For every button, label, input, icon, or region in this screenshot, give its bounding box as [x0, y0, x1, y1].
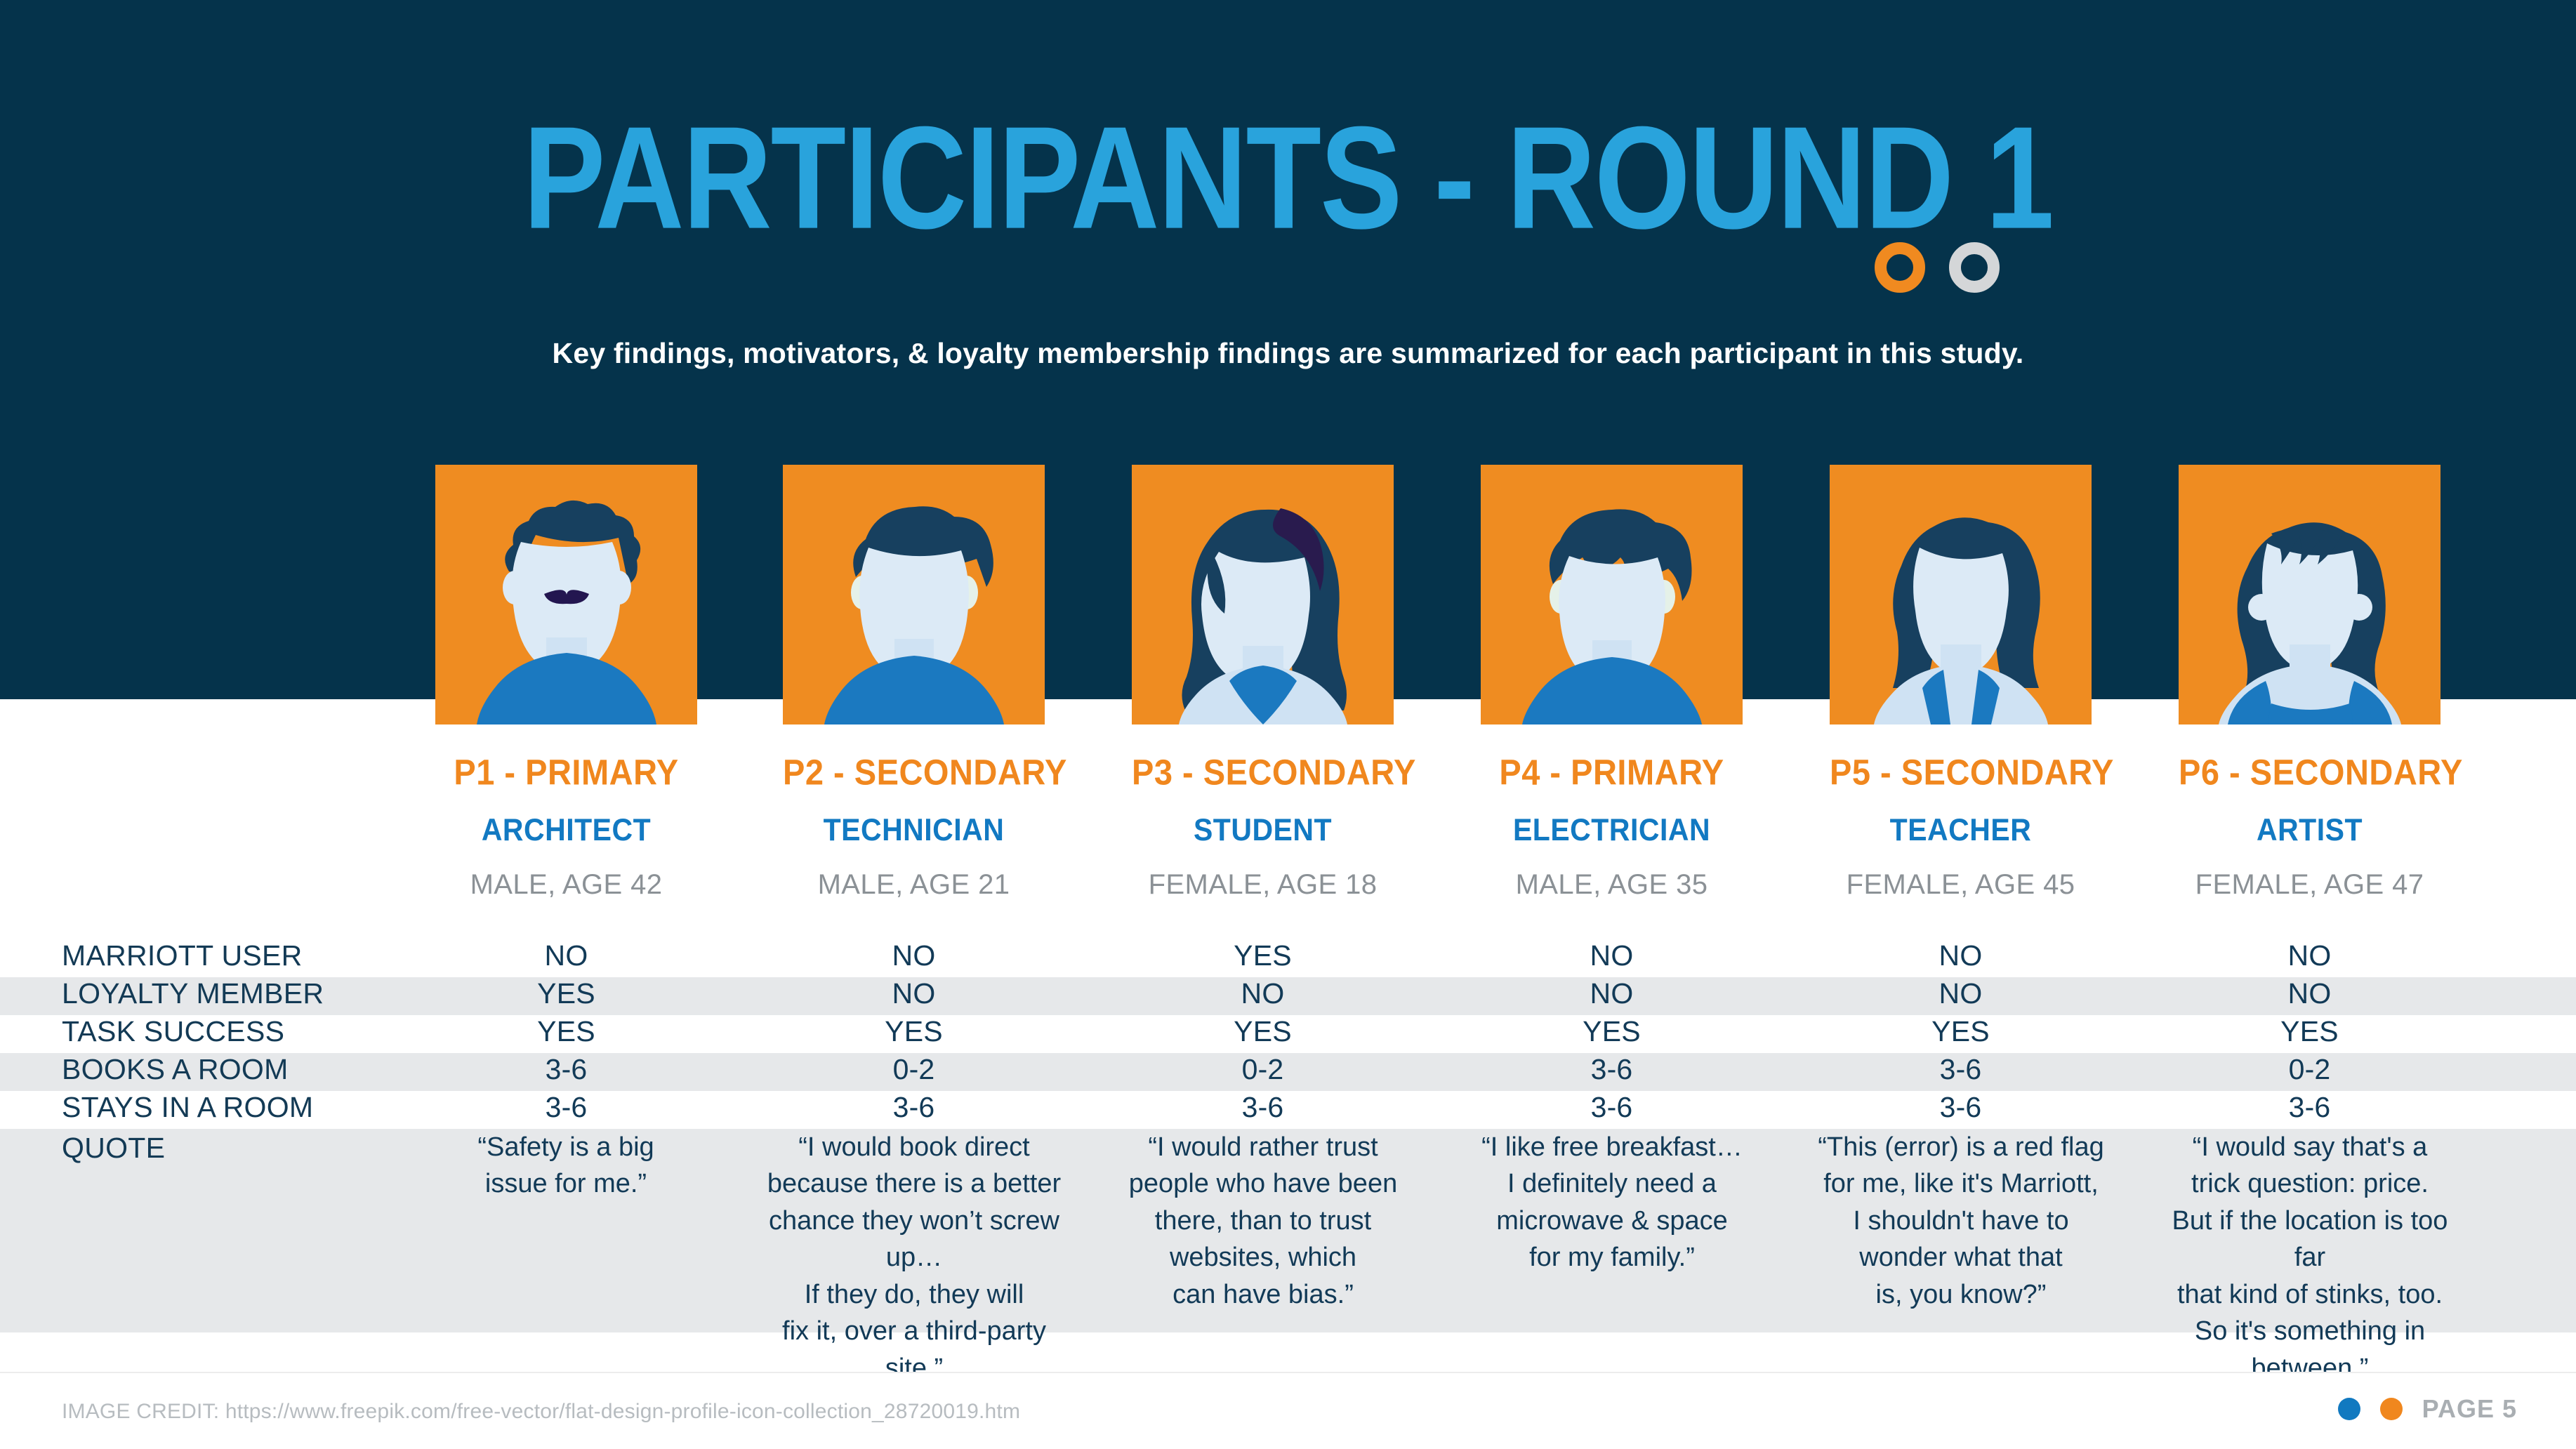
cell-marriott-user-p2: NO: [783, 939, 1045, 972]
page-indicator: PAGE 5: [2338, 1394, 2517, 1424]
cell-stays-in-a-room-p4: 3-6: [1481, 1091, 1743, 1124]
cell-task-success-p1: YES: [435, 1015, 697, 1048]
cell-loyalty-member-p2: NO: [783, 977, 1045, 1010]
cell-books-a-room-p2: 0-2: [783, 1053, 1045, 1086]
page-number-label: PAGE 5: [2422, 1394, 2517, 1424]
cell-marriott-user-p6: NO: [2179, 939, 2440, 972]
cell-quote-p3: “I would rather trust people who have be…: [1109, 1129, 1418, 1313]
avatar-p6: [2179, 465, 2440, 724]
participant-demographics-p3: FEMALE, AGE 18: [1132, 869, 1394, 901]
avatar-p5: [1830, 465, 2092, 724]
image-credit-text: IMAGE CREDIT: https://www.freepik.com/fr…: [62, 1400, 1020, 1424]
cell-task-success-p2: YES: [783, 1015, 1045, 1048]
cell-loyalty-member-p3: NO: [1132, 977, 1394, 1010]
cell-loyalty-member-p4: NO: [1481, 977, 1743, 1010]
cell-task-success-p3: YES: [1132, 1015, 1394, 1048]
cell-books-a-room-p4: 3-6: [1481, 1053, 1743, 1086]
participant-comparison-table: MARRIOTT USER NO NO YES NO NO NO LOYALTY…: [0, 939, 2576, 1332]
participant-role-p6: ARTIST: [2179, 812, 2440, 848]
cell-quote-p5: “This (error) is a red flag for me, like…: [1806, 1129, 2115, 1313]
avatar-p2: [783, 465, 1045, 724]
cell-task-success-p6: YES: [2179, 1015, 2440, 1048]
participant-role-p5: TEACHER: [1830, 812, 2092, 848]
cell-quote-p2: “I would book direct because there is a …: [760, 1129, 1069, 1387]
ring-gray-icon: [1949, 242, 2000, 293]
row-label-loyalty-member: LOYALTY MEMBER: [62, 977, 324, 1010]
cell-books-a-room-p5: 3-6: [1830, 1053, 2092, 1086]
cell-quote-p6: “I would say that's a trick question: pr…: [2155, 1129, 2464, 1387]
table-row-marriott-user: MARRIOTT USER NO NO YES NO NO NO: [0, 939, 2576, 977]
slide-root: PARTICIPANTS - ROUND 1 Key findings, mot…: [0, 0, 2576, 1449]
participant-header-p3: P3 - SECONDARY STUDENT FEMALE, AGE 18: [1132, 751, 1394, 901]
row-label-quote: QUOTE: [62, 1132, 165, 1165]
cell-books-a-room-p3: 0-2: [1132, 1053, 1394, 1086]
cell-quote-p4: “I like free breakfast… I definitely nee…: [1458, 1129, 1766, 1276]
avatar-p1: [435, 465, 697, 724]
cell-stays-in-a-room-p5: 3-6: [1830, 1091, 2092, 1124]
page-title: PARTICIPANTS - ROUND 1: [0, 105, 2576, 251]
cell-stays-in-a-room-p6: 3-6: [2179, 1091, 2440, 1124]
cell-quote-p1: “Safety is a big issue for me.”: [411, 1129, 720, 1203]
cell-books-a-room-p6: 0-2: [2179, 1053, 2440, 1086]
table-row-books-a-room: BOOKS A ROOM 3-6 0-2 0-2 3-6 3-6 0-2: [0, 1053, 2576, 1091]
footer: IMAGE CREDIT: https://www.freepik.com/fr…: [0, 1372, 2576, 1449]
participant-id-p2: P2 - SECONDARY: [783, 751, 1045, 793]
avatar-p4: [1481, 465, 1743, 724]
cell-task-success-p5: YES: [1830, 1015, 2092, 1048]
cell-marriott-user-p1: NO: [435, 939, 697, 972]
footer-dot-blue-icon: [2338, 1398, 2360, 1420]
cell-loyalty-member-p6: NO: [2179, 977, 2440, 1010]
cell-books-a-room-p1: 3-6: [435, 1053, 697, 1086]
row-label-books-a-room: BOOKS A ROOM: [62, 1053, 289, 1086]
cell-stays-in-a-room-p1: 3-6: [435, 1091, 697, 1124]
row-label-task-success: TASK SUCCESS: [62, 1015, 284, 1048]
page-subtitle: Key findings, motivators, & loyalty memb…: [0, 337, 2576, 370]
cell-loyalty-member-p5: NO: [1830, 977, 2092, 1010]
cell-loyalty-member-p1: YES: [435, 977, 697, 1010]
participant-demographics-p2: MALE, AGE 21: [783, 869, 1045, 901]
avatar-p3: [1132, 465, 1394, 724]
participant-demographics-p5: FEMALE, AGE 45: [1830, 869, 2092, 901]
participant-header-p5: P5 - SECONDARY TEACHER FEMALE, AGE 45: [1830, 751, 2092, 901]
row-label-marriott-user: MARRIOTT USER: [62, 939, 303, 972]
table-row-loyalty-member: LOYALTY MEMBER YES NO NO NO NO NO: [0, 977, 2576, 1015]
participant-labels: P1 - PRIMARY ARCHITECT MALE, AGE 42 P2 -…: [0, 751, 2576, 934]
title-ring-decoration: [1875, 242, 2000, 293]
table-row-stays-in-a-room: STAYS IN A ROOM 3-6 3-6 3-6 3-6 3-6 3-6: [0, 1091, 2576, 1129]
table-row-quote: QUOTE “Safety is a big issue for me.” “I…: [0, 1129, 2576, 1332]
participant-id-p1: P1 - PRIMARY: [435, 751, 697, 793]
participant-id-p5: P5 - SECONDARY: [1830, 751, 2092, 793]
participant-role-p1: ARCHITECT: [435, 812, 697, 848]
participant-demographics-p1: MALE, AGE 42: [435, 869, 697, 901]
cell-stays-in-a-room-p2: 3-6: [783, 1091, 1045, 1124]
participant-header-p1: P1 - PRIMARY ARCHITECT MALE, AGE 42: [435, 751, 697, 901]
table-row-task-success: TASK SUCCESS YES YES YES YES YES YES: [0, 1015, 2576, 1053]
participant-role-p4: ELECTRICIAN: [1481, 812, 1743, 848]
participant-demographics-p6: FEMALE, AGE 47: [2179, 869, 2440, 901]
participant-header-p6: P6 - SECONDARY ARTIST FEMALE, AGE 47: [2179, 751, 2440, 901]
cell-stays-in-a-room-p3: 3-6: [1132, 1091, 1394, 1124]
participant-role-p3: STUDENT: [1132, 812, 1394, 848]
cell-marriott-user-p3: YES: [1132, 939, 1394, 972]
cell-marriott-user-p5: NO: [1830, 939, 2092, 972]
participant-id-p6: P6 - SECONDARY: [2179, 751, 2440, 793]
row-label-stays-in-a-room: STAYS IN A ROOM: [62, 1091, 313, 1124]
participant-id-p3: P3 - SECONDARY: [1132, 751, 1394, 793]
participant-demographics-p4: MALE, AGE 35: [1481, 869, 1743, 901]
participant-role-p2: TECHNICIAN: [783, 812, 1045, 848]
participant-header-p4: P4 - PRIMARY ELECTRICIAN MALE, AGE 35: [1481, 751, 1743, 901]
participant-id-p4: P4 - PRIMARY: [1481, 751, 1743, 793]
cell-task-success-p4: YES: [1481, 1015, 1743, 1048]
cell-marriott-user-p4: NO: [1481, 939, 1743, 972]
footer-dot-orange-icon: [2380, 1398, 2403, 1420]
avatar-row: [0, 465, 2576, 724]
participant-header-p2: P2 - SECONDARY TECHNICIAN MALE, AGE 21: [783, 751, 1045, 901]
ring-orange-icon: [1875, 242, 1925, 293]
